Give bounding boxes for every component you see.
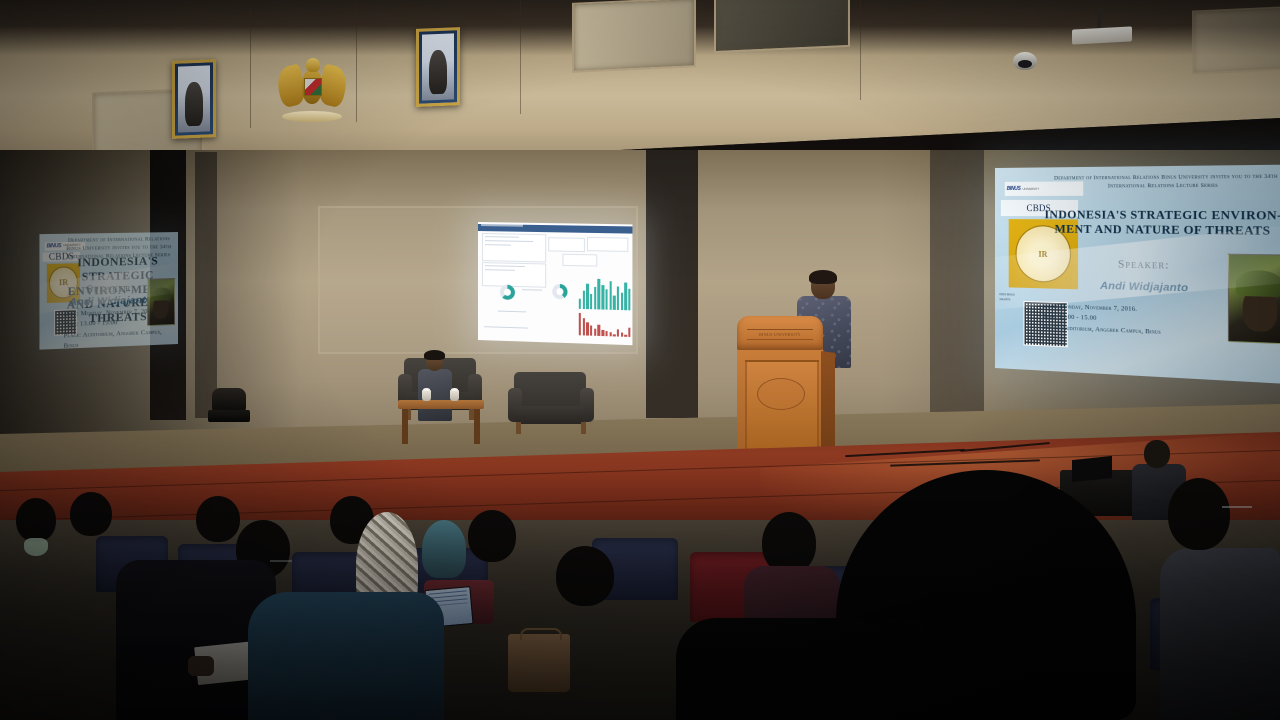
bar (621, 292, 623, 310)
handbag (508, 634, 570, 692)
foreground-shoulder (676, 618, 926, 720)
speaker-photo (147, 278, 175, 326)
cctv-camera-icon (1013, 52, 1037, 70)
hand (188, 656, 214, 676)
audience-head (762, 512, 816, 574)
center-projection-screen (478, 222, 632, 345)
dashboard-kpi (587, 237, 628, 252)
portrait-right (416, 27, 460, 107)
cup (450, 390, 459, 401)
bar (598, 325, 600, 336)
bar (617, 329, 619, 337)
wall-seam (250, 8, 251, 128)
bar (628, 328, 630, 337)
coffee-table (398, 400, 484, 444)
event-poster: BINUS UNIVERSITY CBDS IR CBDS BINUS JAKA… (995, 164, 1280, 384)
bar (609, 281, 611, 309)
poster-speaker-name: Andi Widjajanto (1052, 278, 1242, 296)
audience-head (556, 546, 614, 606)
donut-chart (552, 284, 567, 300)
bar (621, 333, 623, 337)
hijab (422, 520, 466, 578)
audience-head (196, 496, 240, 542)
audience-head (16, 498, 56, 542)
ceiling-projector (1072, 26, 1132, 44)
dashboard-kpi (548, 237, 585, 252)
bar-series-b (579, 313, 631, 337)
dashboard-titlebar (478, 224, 632, 234)
bar (598, 279, 600, 310)
air-vent (714, 0, 850, 53)
portrait-left (172, 59, 216, 139)
wall-seam (520, 0, 521, 114)
speaker-photo (1228, 254, 1280, 345)
bar (624, 334, 626, 337)
audience-body (1160, 548, 1280, 720)
bar-series-a (579, 278, 631, 310)
bar (594, 328, 596, 336)
poster-header: Department of International Relations Bi… (1040, 173, 1280, 191)
bar (594, 287, 596, 309)
bar (602, 330, 604, 336)
poster-speaker-label: Speaker: (1052, 257, 1242, 273)
bar (590, 326, 592, 336)
poster-title: INDONESIA'S STRATEGIC ENVIRON-MENT AND N… (1040, 208, 1280, 238)
air-vent (1192, 5, 1280, 74)
moving-head-stage-light (208, 388, 250, 422)
bar (628, 289, 630, 310)
eyeglasses-icon (1222, 506, 1252, 515)
bar (586, 322, 588, 336)
bar (605, 331, 607, 336)
audience-head (1168, 478, 1230, 550)
audience-head (70, 492, 112, 536)
bar (586, 283, 588, 309)
garuda-pancasila-emblem (276, 56, 348, 124)
dashboard-kpi (562, 254, 597, 267)
podium-engraving: BINUS UNIVERSITY (747, 329, 813, 340)
bar (605, 290, 607, 310)
auditorium-photo: BINUS UNIVERSITY CBDS IR Department of I… (0, 0, 1280, 720)
bar (613, 296, 615, 310)
eyeglasses-icon (270, 560, 292, 568)
dashboard-slide (478, 222, 632, 345)
podium-emblem (757, 378, 805, 410)
poster-speaker-label: Speaker: (68, 282, 154, 297)
bar (579, 298, 581, 309)
bar (583, 290, 585, 309)
av-laptop (1072, 456, 1112, 482)
poster-duplicate: BINUS UNIVERSITY CBDS IR Department of I… (39, 232, 178, 350)
audience-head (468, 510, 516, 562)
wall-seam (860, 0, 861, 100)
bar (590, 294, 592, 309)
donut-chart (500, 285, 515, 300)
bar (579, 313, 581, 335)
bar (583, 318, 585, 335)
audience-body (248, 592, 444, 720)
bar (613, 334, 615, 337)
cup (422, 390, 431, 401)
bar (609, 333, 611, 337)
bag-handle (520, 628, 562, 640)
wall-seam (356, 4, 357, 122)
podium-top: BINUS UNIVERSITY (737, 316, 823, 350)
left-projection-screen: BINUS UNIVERSITY CBDS IR Department of I… (39, 232, 178, 350)
bar (624, 283, 626, 310)
face-mask (24, 538, 48, 556)
bar (602, 285, 604, 310)
podium: BINUS UNIVERSITY (735, 316, 833, 466)
right-projection-screen: BINUS UNIVERSITY CBDS IR CBDS BINUS JAKA… (995, 164, 1280, 384)
air-vent (572, 0, 696, 73)
bar (617, 286, 619, 310)
armchair-empty (508, 372, 594, 436)
wall-column (646, 150, 698, 418)
poster-side-note: CBDS BINUS JAKARTA (999, 292, 1024, 304)
